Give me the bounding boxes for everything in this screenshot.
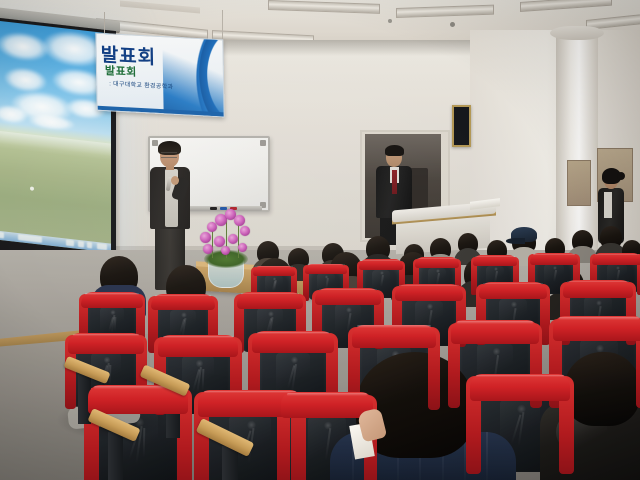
photo-canvas: 발표회 발표회 : 대구대학교 환경공학과 <box>0 0 640 480</box>
wallpaper-speck <box>30 186 34 190</box>
projected-wallpaper <box>0 20 111 253</box>
audience-head-with-cap <box>512 230 536 254</box>
ceiling-sprinkler <box>388 19 392 23</box>
ceiling-sensor <box>450 22 455 27</box>
wall-speaker-icon <box>452 105 471 147</box>
foreground-attendee-hair <box>564 352 640 426</box>
audience-head <box>600 226 622 249</box>
staff-hair <box>385 145 404 156</box>
event-banner: 발표회 발표회 : 대구대학교 환경공학과 <box>95 33 224 118</box>
orchid-bloom <box>238 243 247 252</box>
standing-woman-shirt <box>604 192 612 218</box>
standing-woman-hair-bun <box>617 172 625 180</box>
audience-head <box>100 256 138 296</box>
banner-swoosh-graphic <box>162 33 225 118</box>
wallpaper-hill-highlight <box>0 130 111 161</box>
armrest-post <box>108 432 123 480</box>
presenter-hand <box>171 176 179 185</box>
marker-black <box>210 207 217 210</box>
orchid-bloom <box>234 215 245 226</box>
notice-board-left <box>567 160 591 206</box>
orchid-bloom <box>203 244 213 254</box>
audience-head <box>458 233 478 254</box>
pillar-cap <box>550 26 604 40</box>
staff-necktie <box>392 170 397 194</box>
orchid-bloom <box>221 246 230 255</box>
orchid-bloom <box>228 234 238 244</box>
orchid-bloom <box>200 232 211 243</box>
banner-sub-text: 발표회 <box>105 62 137 80</box>
audience-head <box>366 236 390 261</box>
orchid-stem-3 <box>238 224 239 258</box>
eyeglasses-icon <box>161 152 177 158</box>
orchid-bloom <box>240 226 250 236</box>
banner-wire-right <box>222 10 223 42</box>
audience-head <box>572 230 593 252</box>
